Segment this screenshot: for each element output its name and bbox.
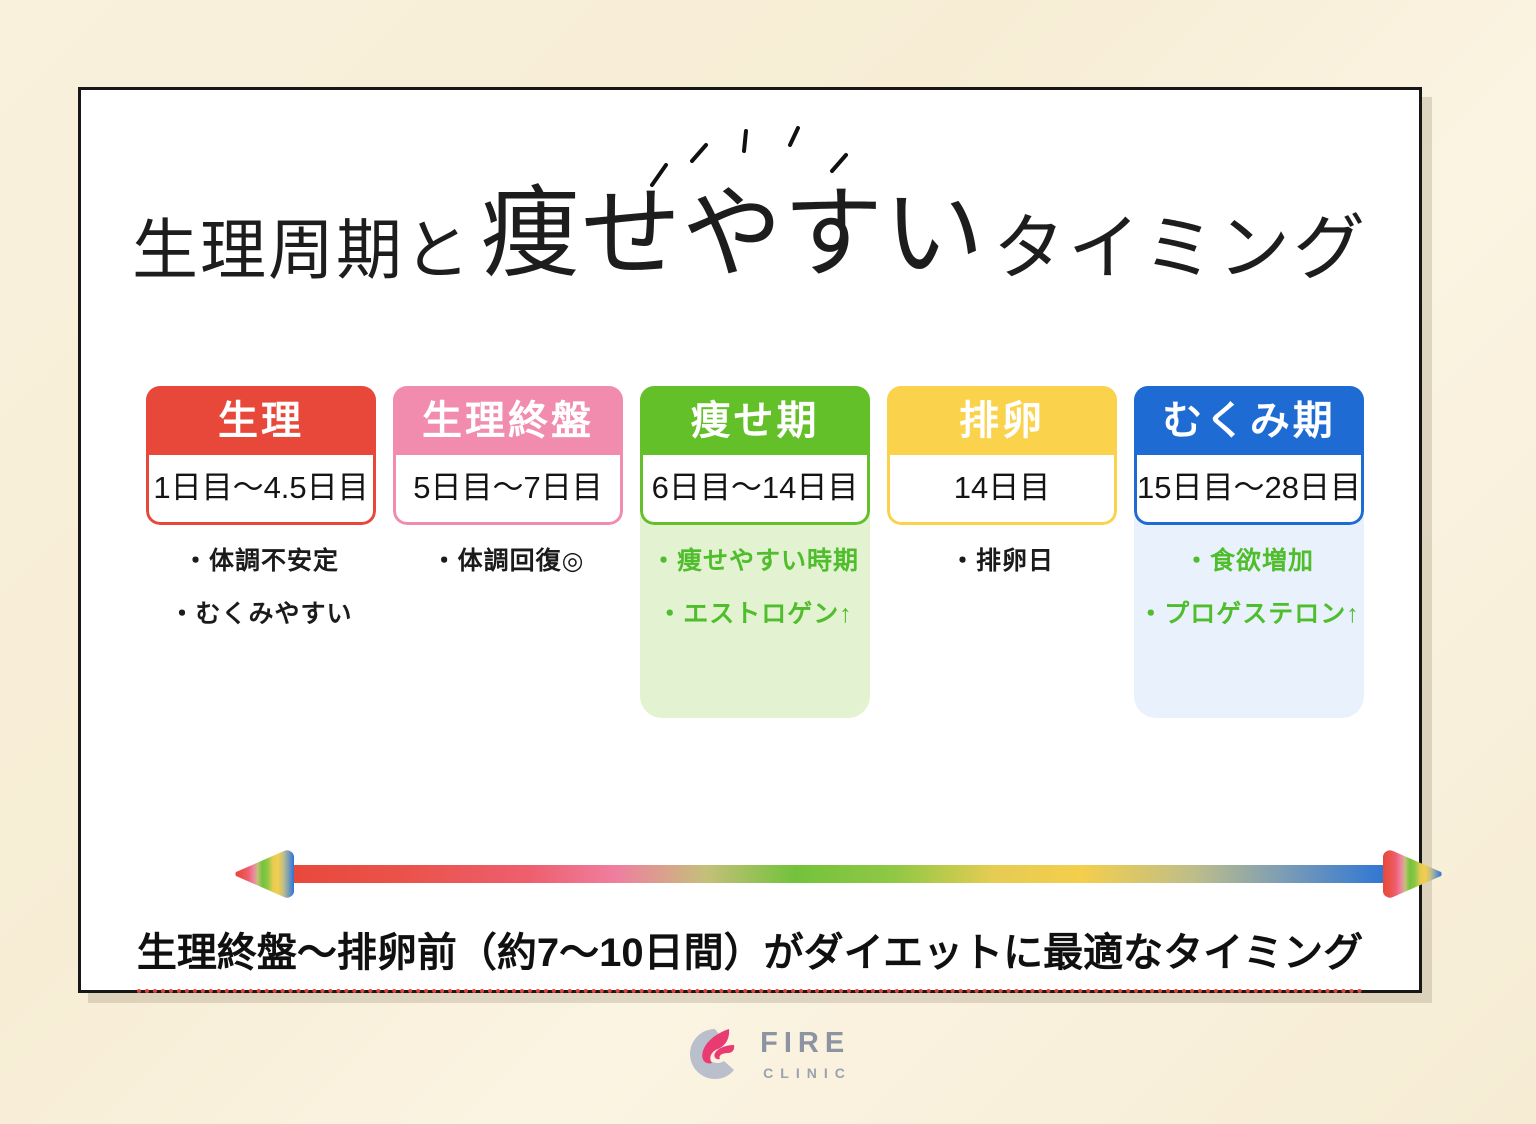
phase-name: むくみ期 bbox=[1134, 386, 1364, 455]
phase-bullet-list: ・体調回復◎ bbox=[393, 549, 623, 602]
list-item: ・食欲増加 bbox=[1134, 549, 1364, 574]
brand-wordmark: FIRE CLINIC bbox=[760, 1029, 852, 1080]
fire-clinic-flame-icon bbox=[684, 1023, 746, 1085]
list-item: ・エストロゲン↑ bbox=[640, 602, 870, 627]
double-headed-arrow-icon bbox=[226, 845, 1451, 903]
footer-note: 生理終盤〜排卵前（約7〜10日間）がダイエットに最適なタイミング bbox=[81, 920, 1419, 993]
phase-bullet-list: ・排卵日 bbox=[887, 549, 1117, 602]
list-item: ・むくみやすい bbox=[146, 602, 376, 627]
title-part-3: タイミング bbox=[993, 213, 1368, 285]
phase-column-seiri-shuban: 生理終盤 5日目〜7日目 ・体調回復◎ bbox=[393, 386, 623, 602]
phase-column-yaseki: 痩せ期 6日目〜14日目 ・痩せやすい時期 ・エストロゲン↑ bbox=[640, 386, 870, 655]
phase-days: 5日目〜7日目 bbox=[393, 455, 623, 525]
phase-card[interactable]: 痩せ期 6日目〜14日目 bbox=[640, 386, 870, 525]
list-item: ・プロゲステロン↑ bbox=[1134, 602, 1364, 627]
phase-days: 14日目 bbox=[887, 455, 1117, 525]
title-part-1: 生理周期と bbox=[132, 219, 472, 285]
phase-card[interactable]: 生理 1日目〜4.5日目 bbox=[146, 386, 376, 525]
sparkle-marks-icon bbox=[640, 123, 860, 193]
page-title: 生理周期と 痩せやすい タイミング bbox=[81, 185, 1419, 285]
phase-card[interactable]: 生理終盤 5日目〜7日目 bbox=[393, 386, 623, 525]
infographic-board: 生理周期と 痩せやすい タイミング 生理 1日目〜4.5日目 ・体調不安定 ・む… bbox=[78, 87, 1422, 993]
phase-column-seiri: 生理 1日目〜4.5日目 ・体調不安定 ・むくみやすい bbox=[146, 386, 376, 655]
phase-column-hairan: 排卵 14日目 ・排卵日 bbox=[887, 386, 1117, 602]
phase-bullet-list: ・食欲増加 ・プロゲステロン↑ bbox=[1134, 549, 1364, 655]
title-part-2: 痩せやすい bbox=[480, 185, 985, 285]
phase-name: 生理 bbox=[146, 386, 376, 455]
brand-name-line2: CLINIC bbox=[763, 1066, 852, 1080]
phase-days: 6日目〜14日目 bbox=[640, 455, 870, 525]
phase-name: 生理終盤 bbox=[393, 386, 623, 455]
brand-logo: FIRE CLINIC bbox=[0, 1023, 1536, 1085]
list-item: ・体調回復◎ bbox=[393, 549, 623, 574]
list-item: ・体調不安定 bbox=[146, 549, 376, 574]
footer-note-text: 生理終盤〜排卵前（約7〜10日間）がダイエットに最適なタイミング bbox=[137, 920, 1363, 993]
phase-bullet-list: ・痩せやすい時期 ・エストロゲン↑ bbox=[640, 549, 870, 655]
phase-bullet-list: ・体調不安定 ・むくみやすい bbox=[146, 549, 376, 655]
list-item: ・痩せやすい時期 bbox=[640, 549, 870, 574]
phase-days: 1日目〜4.5日目 bbox=[146, 455, 376, 525]
phase-days: 15日目〜28日目 bbox=[1134, 455, 1364, 525]
phase-card-row: 生理 1日目〜4.5日目 ・体調不安定 ・むくみやすい 生理終盤 5日目〜7日目… bbox=[146, 386, 1364, 736]
phase-card[interactable]: 排卵 14日目 bbox=[887, 386, 1117, 525]
phase-name: 排卵 bbox=[887, 386, 1117, 455]
list-item: ・排卵日 bbox=[887, 549, 1117, 574]
phase-name: 痩せ期 bbox=[640, 386, 870, 455]
brand-name-line1: FIRE bbox=[760, 1029, 852, 1058]
phase-card[interactable]: むくみ期 15日目〜28日目 bbox=[1134, 386, 1364, 525]
phase-column-mukumiki: むくみ期 15日目〜28日目 ・食欲増加 ・プロゲステロン↑ bbox=[1134, 386, 1364, 655]
